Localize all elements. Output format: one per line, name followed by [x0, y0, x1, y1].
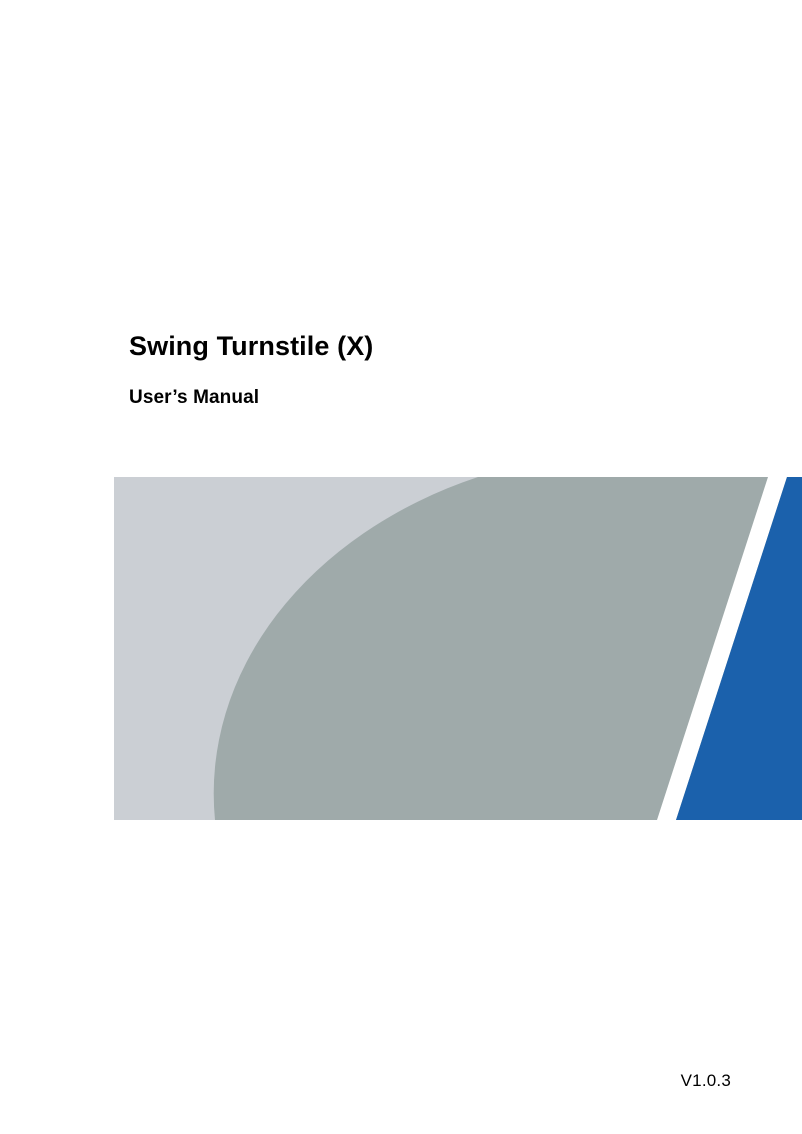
version-label: V1.0.3 [0, 1071, 731, 1091]
page-subtitle: User’s Manual [129, 363, 749, 410]
cover-banner-graphic [114, 477, 802, 820]
banner-artwork [114, 477, 802, 820]
page-title: Swing Turnstile (X) [129, 331, 749, 363]
cover-page: Swing Turnstile (X) User’s Manual V1.0.3 [0, 0, 802, 1134]
title-block: Swing Turnstile (X) User’s Manual [129, 331, 749, 410]
